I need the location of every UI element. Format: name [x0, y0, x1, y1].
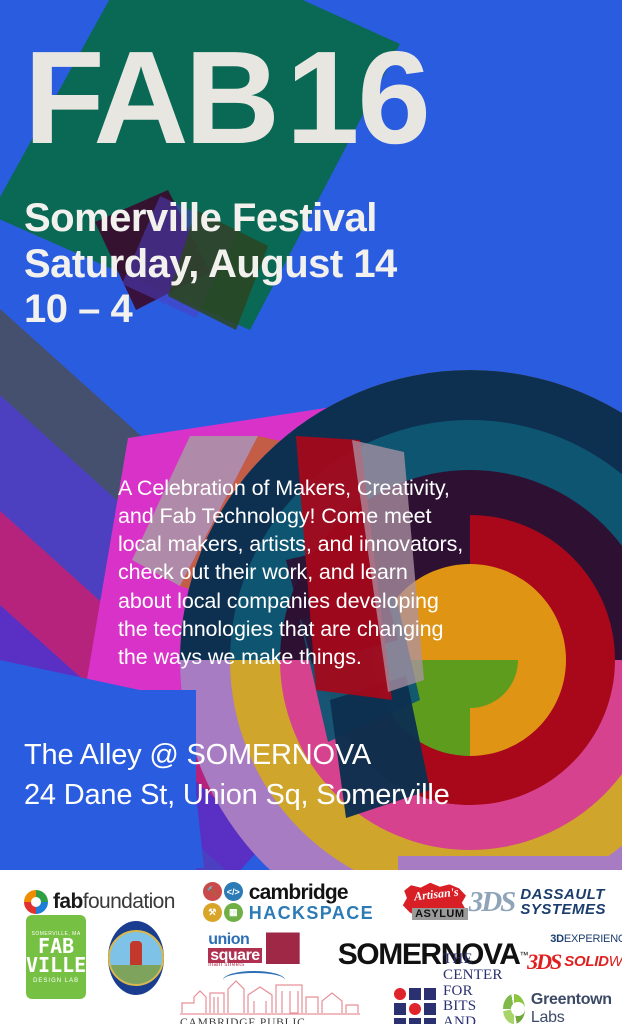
body-line-7: the ways we make things.: [118, 643, 518, 671]
union-square-flag-icon: [266, 932, 300, 964]
headline-line-1: Somerville Festival: [24, 196, 397, 242]
cba-line-1: THE CENTER FOR: [443, 952, 503, 999]
logo-fab-foundation[interactable]: fabfoundation: [24, 890, 175, 914]
logo-union-square-main-streets[interactable]: union square main streets: [208, 932, 299, 979]
union-square-line-1: union: [208, 932, 261, 947]
body-line-5: about local companies developing: [118, 587, 518, 615]
logo-city-of-somerville-seal[interactable]: [108, 921, 164, 995]
3dexperience-lab-badge: 3DEXPERIENCE Lab: [550, 932, 622, 946]
hammer-icon: 🔨: [203, 882, 222, 901]
logo-cambridge-hackspace[interactable]: 🔨 </> ⚒ ▦ cambridge HACKSPACE: [203, 882, 374, 922]
hackspace-line-1: cambridge: [249, 882, 374, 903]
sponsor-logo-band: fabfoundation 🔨 </> ⚒ ▦ cambridge HACKSP…: [0, 870, 622, 1024]
code-icon: </>: [224, 882, 243, 901]
venue-block: The Alley @ SOMERNOVA 24 Dane St, Union …: [24, 735, 450, 815]
union-square-line-2: square: [208, 948, 261, 963]
wrench-icon: ⚒: [203, 903, 222, 922]
body-line-3: local makers, artists, and innovators,: [118, 530, 518, 558]
headline-block: Somerville Festival Saturday, August 14 …: [24, 196, 397, 333]
logo-artisans-asylum[interactable]: Artisan's ASYLUM: [400, 882, 469, 922]
cambridge-library-text: CAMBRIDGE PUBLIC LIBRARY: [180, 1017, 360, 1024]
dassault-line-1: DASSAULT: [520, 887, 606, 902]
body-line-6: the technologies that are changing: [118, 615, 518, 643]
dassault-3ds-mark-icon: 3DS: [469, 886, 515, 919]
solidworks-bold: SOLID: [564, 953, 608, 970]
logo-dassault-3dexperience-solidworks[interactable]: 3DEXPERIENCE Lab 3DS SOLIDWORKS: [527, 932, 622, 975]
body-line-4: check out their work, and learn: [118, 558, 518, 586]
title-number: 16: [286, 24, 429, 171]
3dexperience-bold: 3D: [550, 933, 564, 945]
cambridge-skyline-icon: [180, 977, 360, 1015]
body-line-1: A Celebration of Makers, Creativity,: [118, 474, 518, 502]
fab-foundation-light: foundation: [83, 890, 175, 913]
solidworks-3ds-mark-icon: 3DS: [527, 949, 560, 975]
cba-grid-icon: [394, 988, 436, 1024]
union-square-line-3: main streets: [208, 963, 261, 969]
fabville-ville: VILLE: [26, 956, 86, 975]
somerville-seal-emblem-icon: [108, 930, 164, 986]
page-title: FAB16: [24, 32, 429, 164]
solidworks-light: WORKS: [609, 953, 622, 970]
hackspace-line-2: HACKSPACE: [249, 904, 374, 922]
cba-line-2: BITS AND ATOMS: [443, 999, 503, 1024]
solidworks-lockup: 3DS SOLIDWORKS: [527, 949, 622, 975]
beaker-icon: ▦: [224, 903, 243, 922]
venue-address: 24 Dane St, Union Sq, Somerville: [24, 775, 450, 815]
greentown-bold: Greentown: [531, 991, 612, 1008]
logo-center-for-bits-and-atoms[interactable]: THE CENTER FOR BITS AND ATOMS Massachuse…: [394, 952, 503, 1024]
venue-name: The Alley @ SOMERNOVA: [24, 735, 450, 775]
body-line-2: and Fab Technology! Come meet: [118, 502, 518, 530]
body-copy-block: A Celebration of Makers, Creativity, and…: [118, 474, 518, 671]
dassault-line-2: SYSTEMES: [520, 902, 606, 917]
fab-foundation-mark-icon: [24, 890, 48, 914]
fab-foundation-bold: fab: [53, 890, 83, 913]
somernova-tm: ™: [520, 950, 528, 960]
sponsor-row-3: CAMBRIDGE PUBLIC LIBRARY THE CENTER FOR …: [10, 986, 612, 1024]
logo-fabville-design-lab[interactable]: SOMERVILLE, MA FAB VILLE DESIGN LAB: [26, 915, 86, 999]
fabville-bottom-text: DESIGN LAB: [33, 978, 79, 984]
hackspace-icon-grid: 🔨 </> ⚒ ▦: [203, 882, 243, 922]
greentown-light: Labs: [531, 1009, 565, 1024]
headline-line-3: 10 – 4: [24, 287, 397, 333]
logo-cambridge-public-library[interactable]: CAMBRIDGE PUBLIC LIBRARY: [180, 977, 360, 1024]
title-word: FAB: [24, 24, 276, 171]
logo-dassault-systemes[interactable]: 3DS DASSAULT SYSTEMES: [469, 886, 606, 919]
greentown-recycle-icon: [503, 994, 525, 1024]
headline-line-2: Saturday, August 14: [24, 242, 397, 288]
3dexperience-light: EXPERIENCE: [564, 933, 622, 945]
sponsor-row-1: fabfoundation 🔨 </> ⚒ ▦ cambridge HACKSP…: [10, 878, 612, 926]
logo-greentown-labs[interactable]: Greentown Labs: [503, 991, 620, 1024]
asylum-block: ASYLUM: [412, 908, 467, 920]
sponsor-row-2: SOMERVILLE, MA FAB VILLE DESIGN LAB unio…: [10, 928, 612, 978]
poster-canvas: FAB16 Somerville Festival Saturday, Augu…: [0, 0, 622, 1024]
